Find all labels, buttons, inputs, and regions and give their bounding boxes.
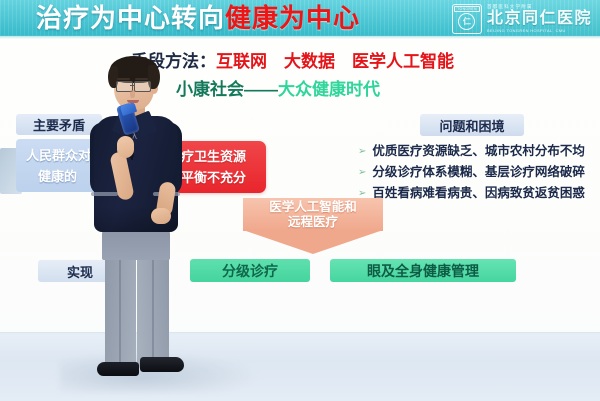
arrow-label: 医学人工智能和 远程医疗 <box>243 200 383 230</box>
society-suffix: 大众健康时代 <box>278 80 380 99</box>
sleeve-cuff-left <box>91 192 118 196</box>
bullet-arrow-icon: ➢ <box>358 143 366 160</box>
bullet-arrow-icon: ➢ <box>358 164 366 181</box>
trouser-crease-left <box>119 256 121 364</box>
trouser-crease-right <box>152 256 154 364</box>
speaker-eyebrow-right <box>135 78 148 80</box>
outcome-tag-health-management: 眼及全身健康管理 <box>330 259 516 282</box>
slide-title-part-red: 健康为中心 <box>225 3 360 33</box>
hospital-logo-affiliation: 首都医科大学附属 <box>487 5 592 10</box>
problems-header: 问题和困境 <box>420 114 524 136</box>
list-item: ➢ 优质医疗资源缺乏、城市农村分布不均 <box>358 143 594 160</box>
methods-items: 互联网 大数据 医学人工智能 <box>216 52 454 71</box>
speaker-eyebrow-left <box>117 78 130 80</box>
slide-title: 治疗为中心转向健康为中心 <box>36 3 360 33</box>
hospital-logo-mark-wordmark: TONGREN <box>454 6 480 12</box>
list-item-label: 优质医疗资源缺乏、城市农村分布不均 <box>372 143 585 160</box>
arrow-head-icon <box>243 230 383 254</box>
solution-arrow: 医学人工智能和 远程医疗 <box>243 198 383 254</box>
photo-frame: 治疗为中心转向健康为中心 TONGREN 仁 首都医科大学附属 北京同仁医院 B… <box>0 0 600 401</box>
hospital-logo: TONGREN 仁 首都医科大学附属 北京同仁医院 BEIJING TONGRE… <box>452 4 592 34</box>
speaker-hips <box>102 228 170 260</box>
header-band-edge <box>0 35 600 39</box>
speaker-hand-holding-microphone <box>117 136 134 158</box>
list-item: ➢ 分级诊疗体系模糊、基层诊疗网络破碎 <box>358 164 594 181</box>
hospital-logo-mark-icon: TONGREN 仁 <box>452 4 482 34</box>
eyeglass-lens-right <box>134 81 151 92</box>
blue-box-line-2: 健康的 <box>38 166 77 185</box>
hospital-logo-name-en: BEIJING TONGREN HOSPITAL, CMU <box>487 29 592 33</box>
list-item-label: 分级诊疗体系模糊、基层诊疗网络破碎 <box>372 164 585 181</box>
blue-box-line-1: 人民群众对 <box>26 145 91 164</box>
speaker-hand-holding-clicker <box>151 208 171 224</box>
slide-title-part-white: 治疗为中心转向 <box>36 3 225 33</box>
list-item: ➢ 百姓看病难看病贵、因病致贫返贫困惑 <box>358 185 594 202</box>
speaker-shoe-right <box>140 357 184 372</box>
speaker-nose <box>130 90 135 98</box>
arrow-label-line-1: 医学人工智能和 <box>243 200 383 215</box>
speaker-leg-left <box>105 256 136 368</box>
speaker-figure <box>84 56 212 380</box>
hospital-logo-name-cn: 北京同仁医院 <box>487 11 592 27</box>
hospital-logo-text: 首都医科大学附属 北京同仁医院 BEIJING TONGREN HOSPITAL… <box>487 5 592 33</box>
problems-list: ➢ 优质医疗资源缺乏、城市农村分布不均 ➢ 分级诊疗体系模糊、基层诊疗网络破碎 … <box>358 143 594 206</box>
eyeglass-bridge <box>130 85 135 86</box>
list-item-label: 百姓看病难看病贵、因病致贫返贫困惑 <box>372 185 585 202</box>
arrow-label-line-2: 远程医疗 <box>243 215 383 230</box>
speaker-shoe-left <box>97 362 139 376</box>
hospital-logo-mark-glyph: 仁 <box>458 13 475 30</box>
